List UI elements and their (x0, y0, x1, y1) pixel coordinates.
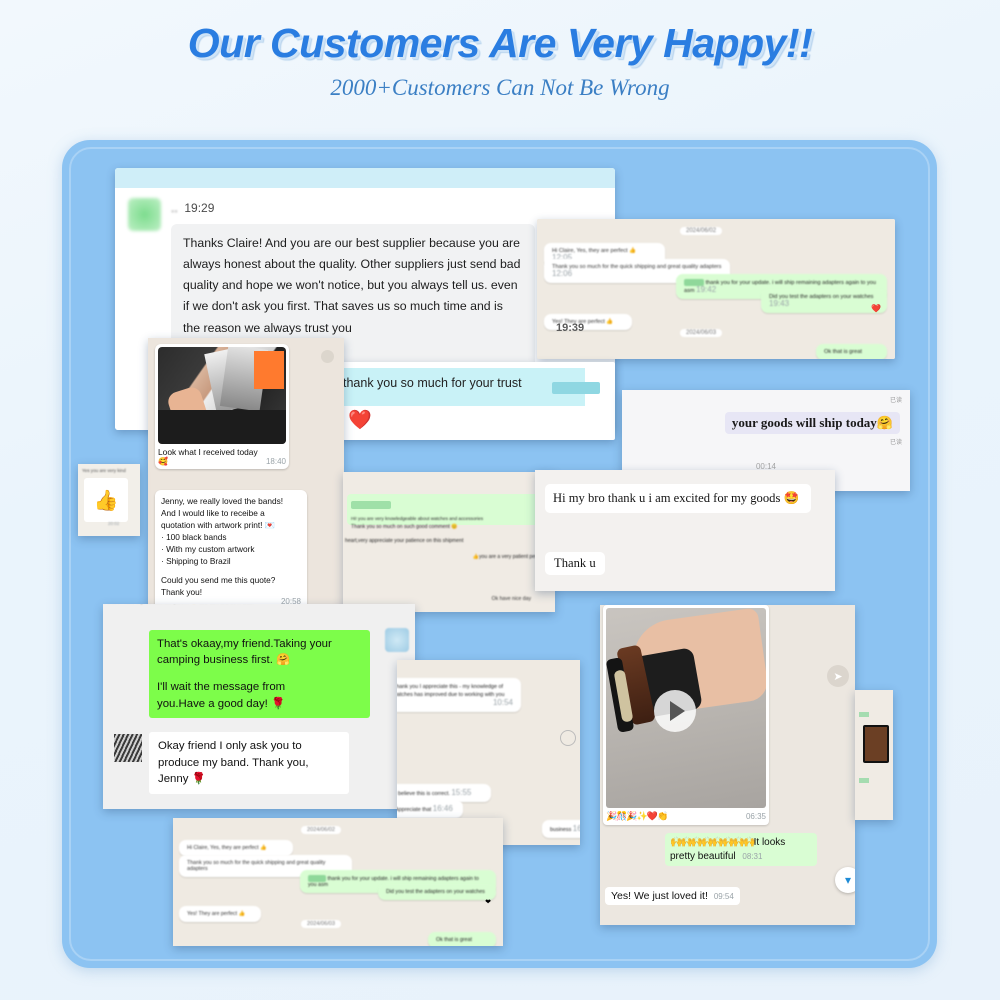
received-bands-photo (158, 347, 286, 444)
quote-line: Thank you! (161, 586, 301, 598)
camping-white-bubble: Okay friend I only ask you to produce my… (149, 732, 349, 794)
camping-top-blurred: Yes but Claire i have a good business pa… (103, 604, 389, 605)
quote-line: And I would like to receibe a (161, 507, 301, 519)
last-message-bubble: Yes! We just loved it! 09:54 (605, 887, 740, 905)
date-divider: 2024/06/02 (680, 227, 722, 235)
avatar (385, 628, 409, 652)
read-receipt-icon (859, 712, 869, 717)
quote-line: · 100 black bands (161, 531, 301, 543)
emoji-strip: 🎉🎊🎉✨❤️👏 (606, 811, 667, 822)
sender-name-blurred: .. (171, 201, 178, 215)
ship-today-text: your goods will ship today (732, 415, 877, 430)
chat-window-titlebar (115, 168, 615, 188)
reply-time: 08:31 (742, 852, 762, 861)
video-time: 06:35 (746, 813, 766, 821)
excited-text: Hi my bro thank u i am excited for my go… (553, 491, 780, 505)
scroll-down-icon[interactable]: ▾ (835, 867, 855, 893)
chat-bubble: Yes! They are perfect 👍 (179, 906, 261, 922)
reply-emoji: 🙌🙌🙌🙌🙌🙌🙌🙌 (670, 837, 754, 848)
bubble-time: 16:46 (433, 804, 453, 813)
bubble-time: 15:55 (451, 788, 471, 797)
thread-line: Hi! you are very knowledgeable about wat… (351, 515, 547, 522)
bubble-time: 19:42 (696, 285, 716, 294)
trust-text: thank you so much for your trust (343, 376, 522, 390)
chat-bubble: Did you test the adapters on your watche… (378, 884, 496, 900)
forward-arrow-icon[interactable]: ➤ (827, 665, 849, 687)
thumbnail-image (863, 725, 889, 763)
chat-bubble: business 16:56 (542, 820, 580, 838)
bubble-time: 12:06 (552, 269, 572, 278)
bubble-text: Appreciate that (397, 807, 431, 813)
play-button-icon[interactable] (654, 690, 696, 732)
kind-time: 20:02 (108, 522, 119, 527)
camping-line: I'll wait the message from (157, 679, 362, 695)
testimonial-card-strip[interactable] (855, 690, 893, 820)
excited-emoji: 🤩 (784, 491, 800, 505)
quote-line: Jenny, we really loved the bands! (161, 495, 301, 507)
thread-footer: Ok have nice day (492, 596, 531, 602)
testimonial-card-kind[interactable]: Yes you are very kind 👍 20:02 (78, 464, 140, 536)
testimonial-card-adapters[interactable]: 2024/06/02 Hi Claire, Yes, they are perf… (537, 219, 895, 359)
bubble-time: 19:43 (769, 299, 789, 308)
camping-green-bubble: That's okaay,my friend.Taking your campi… (149, 630, 370, 718)
camping-line: produce my band. Thank you, (158, 755, 340, 772)
chat-bubble: Ok that is great (428, 932, 496, 946)
quote-line: · Shipping to Brazil (161, 555, 301, 567)
emoji-reaction-icon[interactable] (560, 730, 576, 746)
bubble-text: Yes! They are perfect 👍 (187, 911, 245, 917)
camping-line: Okay friend I only ask you to (158, 738, 340, 755)
photo-reaction-emoji: 🥰 (158, 457, 168, 466)
bubble-time: 16:56 (573, 824, 580, 833)
redacted-name (552, 382, 600, 394)
message-text: Thanks Claire! And you are our best supp… (183, 236, 520, 335)
chat-bubble: Ok that is great (816, 344, 887, 359)
bubble-text: Ok that is great (824, 349, 862, 355)
quote-line: · With my custom artwork (161, 543, 301, 555)
date-divider: 2024/06/03 (680, 329, 722, 337)
bubble-time: 10:54 (397, 699, 513, 707)
bubble-text: Thank you I appreciate this - my knowled… (397, 684, 504, 698)
avatar (114, 734, 142, 762)
ship-today-bubble: your goods will ship today🤗 (725, 412, 900, 434)
bubble-text: Did you test the adapters on your watche… (386, 889, 485, 895)
bubble-text: Hi Claire, Yes, they are perfect 👍 (187, 845, 267, 851)
bubble-text: business (550, 827, 571, 833)
page-title: Our Customers Are Very Happy!! (0, 20, 1000, 67)
read-badge: 已读 (890, 395, 902, 404)
quote-line: quotation with artwork print! 💌 (161, 519, 301, 531)
page-subtitle: 2000+Customers Can Not Be Wrong (0, 75, 1000, 101)
chat-bubble: Appreciate that 16:46 (397, 800, 463, 818)
last-message-time: 09:54 (714, 892, 734, 901)
bubble-text: Ok that is great (436, 937, 472, 943)
photo-time: 18:40 (266, 458, 286, 466)
bubble-text: Thank you so much for the quick shipping… (552, 264, 721, 270)
chat-bubble: Did you test the adapters on your watche… (761, 289, 887, 313)
thread-line: heart,very appreciate your patience on t… (345, 538, 541, 544)
photo-message[interactable]: Look what I received today 🥰 18:40 (155, 344, 289, 469)
quote-request-bubble: Jenny, we really loved the bands! And I … (155, 490, 307, 610)
chat-sender-time: .. 19:29 (171, 201, 214, 215)
testimonial-card-camping[interactable]: Yes but Claire i have a good business pa… (103, 604, 415, 809)
excited-bubble: Hi my bro thank u i am excited for my go… (545, 484, 811, 513)
read-receipt-icon (859, 778, 869, 783)
ship-today-emoji: 🤗 (877, 415, 893, 430)
testimonial-card-excited[interactable]: Hi my bro thank u i am excited for my go… (535, 470, 835, 591)
last-message-text: Yes! We just loved it! (611, 890, 708, 902)
camping-line: That's okaay,my friend.Taking your (157, 636, 362, 652)
photo-caption: Look what I received today (158, 447, 286, 457)
green-thread-block: Hi! you are very knowledgeable about wat… (347, 494, 551, 525)
camping-line: you.Have a good day! 🌹 (157, 696, 362, 712)
video-message[interactable]: 🎉🎊🎉✨❤️👏 06:35 (603, 605, 769, 825)
testimonial-card-video-review[interactable]: 🎉🎊🎉✨❤️👏 06:35 ➤ 🙌🙌🙌🙌🙌🙌🙌🙌It looks pretty … (600, 605, 855, 925)
avatar (128, 198, 161, 231)
heart-reaction-icon: ❤️ (348, 408, 372, 432)
forward-arrow-icon[interactable] (321, 350, 334, 363)
date-divider: 2024/06/02 (301, 826, 341, 834)
trust-timestamp: 19:39 (556, 322, 584, 334)
heart-reaction-icon: ❤ (485, 898, 491, 906)
testimonial-card-patient-person[interactable]: Hi! you are very knowledgeable about wat… (343, 472, 555, 612)
page-header: Our Customers Are Very Happy!! 2000+Cust… (0, 0, 1000, 101)
read-badge: 已读 (890, 437, 902, 446)
reply-green-bubble: 🙌🙌🙌🙌🙌🙌🙌🙌It looks pretty beautiful 08:31 (665, 833, 817, 866)
camping-line: Jenny 🌹 (158, 771, 340, 788)
testimonial-card-bands-quote[interactable]: Look what I received today 🥰 18:40 Jenny… (148, 338, 344, 610)
heart-reaction-icon: ❤️ (871, 304, 881, 313)
kind-text: Yes you are very kind (82, 468, 126, 473)
thank-u-bubble: Thank u (545, 552, 605, 575)
thread-line: Thank you so much on such good comment 😊 (351, 524, 541, 530)
testimonial-card-adapters-duplicate[interactable]: 2024/06/02 Hi Claire, Yes, they are perf… (173, 818, 503, 946)
quote-line: Could you send me this quote? (161, 574, 301, 586)
thumbs-up-icon: 👍 (84, 478, 128, 522)
date-divider: 2024/06/03 (301, 920, 341, 928)
camping-line: camping business first. 🤗 (157, 652, 362, 668)
chat-bubble: Thank you I appreciate this - my knowled… (397, 678, 521, 712)
testimonial-card-trust[interactable]: thank you so much for your trust ❤️ (330, 362, 615, 440)
bubble-text: I believe this is correct. (397, 791, 450, 797)
chat-bubble: Hi Claire, Yes, they are perfect 👍 (179, 840, 293, 856)
message-time: 19:29 (184, 201, 214, 215)
watch-video-thumbnail (606, 608, 766, 808)
